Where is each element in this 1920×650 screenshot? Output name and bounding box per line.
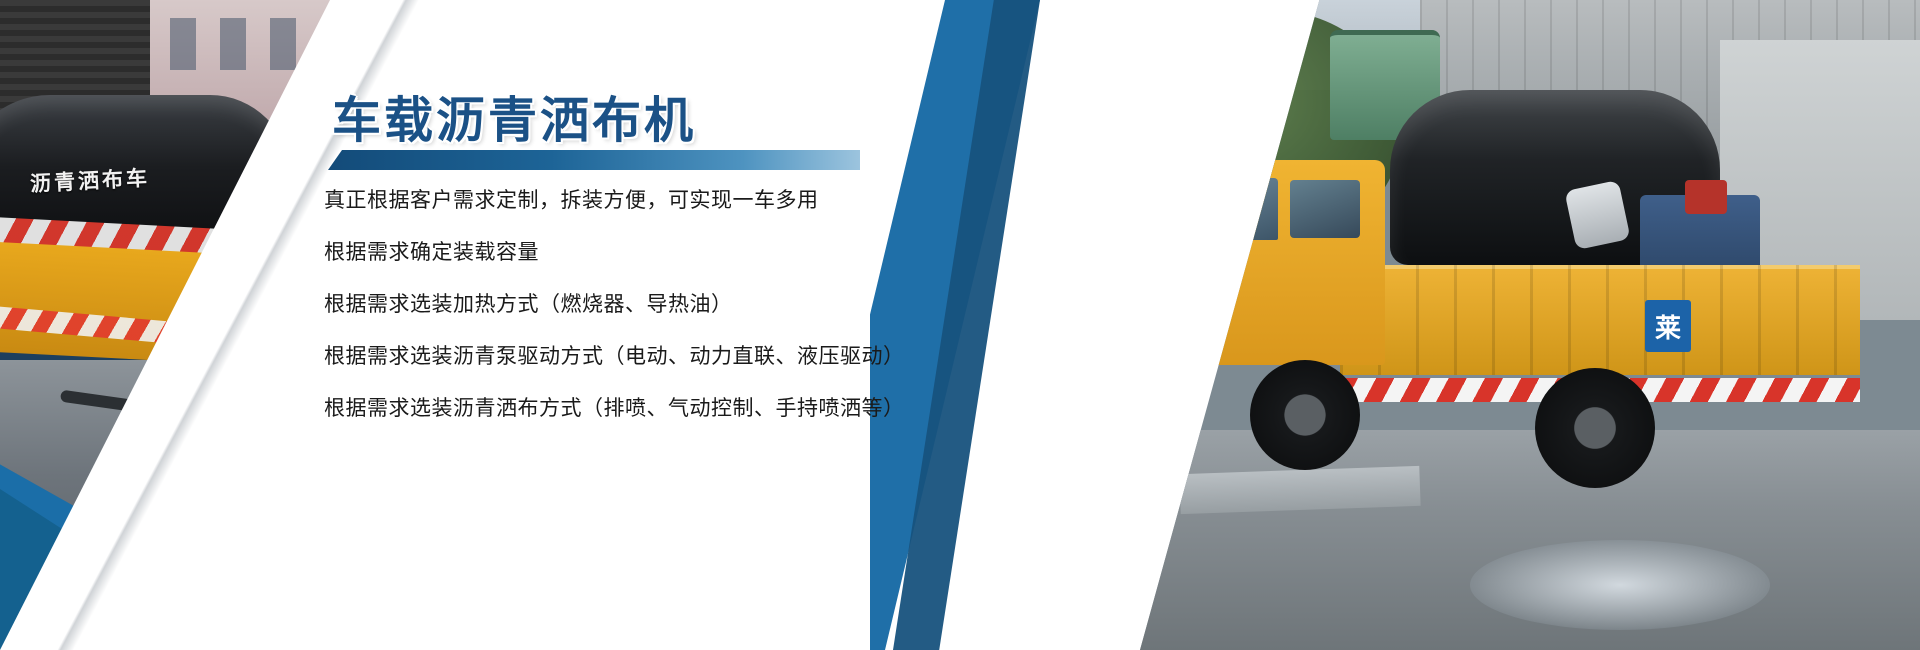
engine-red-cover: [1685, 180, 1727, 214]
cab-window-rear: [1290, 180, 1360, 238]
brand-logo: 莱: [1645, 300, 1691, 352]
building-window: [220, 18, 246, 70]
feature-item: 根据需求确定装载容量: [324, 242, 984, 263]
front-wheel: [1250, 360, 1360, 470]
cab-window-front: [1200, 178, 1278, 240]
truck-bed-ribs: [1340, 265, 1860, 375]
rear-wheel: [1535, 368, 1655, 488]
product-title: 车载沥青洒布机: [332, 96, 696, 145]
feature-item: 根据需求选装沥青洒布方式（排喷、气动控制、手持喷洒等）: [324, 398, 984, 419]
product-banner: 沥青洒布车 莱: [0, 0, 1920, 650]
feature-item: 真正根据客户需求定制，拆装方便，可实现一车多用: [324, 190, 984, 211]
water-puddle: [1470, 540, 1770, 630]
tank-label-text: 沥青洒布车: [29, 162, 150, 198]
concrete-curb: [1179, 466, 1420, 514]
feature-list: 真正根据客户需求定制，拆装方便，可实现一车多用 根据需求确定装载容量 根据需求选…: [324, 190, 984, 419]
feature-item: 根据需求选装加热方式（燃烧器、导热油）: [324, 294, 984, 315]
product-title-wrap: 车载沥青洒布机: [332, 96, 696, 145]
building-window: [170, 18, 196, 70]
feature-item: 根据需求选装沥青泵驱动方式（电动、动力直联、液压驱动）: [324, 346, 984, 367]
title-underline-bar: [328, 150, 860, 170]
right-product-photo: 莱: [1140, 0, 1920, 650]
building-window: [270, 18, 296, 70]
